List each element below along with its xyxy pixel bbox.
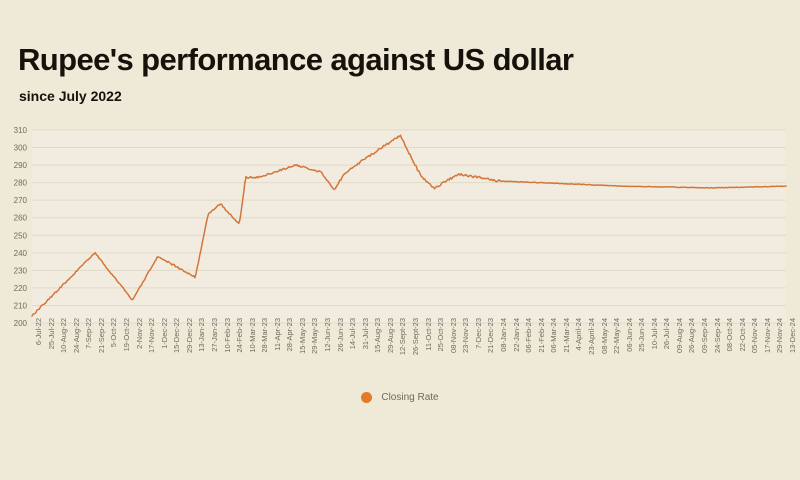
svg-text:210: 210 xyxy=(14,301,28,310)
x-axis-tick-label: 27-Jan-23 xyxy=(211,318,219,352)
x-axis-tick-label: 22-May-24 xyxy=(613,318,621,354)
circle-marker-icon xyxy=(361,392,372,403)
x-axis-tick-label: 10-Aug-22 xyxy=(60,318,68,353)
x-axis-tick-label: 28-Mar-23 xyxy=(261,318,269,353)
x-axis-tick-label: 10-Jul-24 xyxy=(651,318,659,349)
x-axis-tick-label: 11-Oct-23 xyxy=(425,318,433,351)
x-axis-tick-label: 15-Dec-22 xyxy=(173,318,181,353)
x-axis-tick-label: 26-Aug-24 xyxy=(688,318,696,353)
x-axis-tick-label: 17-Nov-24 xyxy=(764,318,772,353)
x-axis-tick-label: 09-Sep-24 xyxy=(701,318,709,353)
x-axis-tick-label: 24-Feb-23 xyxy=(236,318,244,353)
x-axis-tick-label: 7-Dec-23 xyxy=(475,318,483,349)
chart-legend: Closing Rate xyxy=(0,390,800,410)
x-axis-tick-label: 7-Sep-22 xyxy=(85,318,93,349)
x-axis-tick-label: 29-May-23 xyxy=(311,318,319,354)
legend-label: Closing Rate xyxy=(381,393,438,403)
svg-text:310: 310 xyxy=(14,126,28,135)
plot-area: 200210220230240250260270280290300310 xyxy=(0,120,800,330)
line-chart-svg: 200210220230240250260270280290300310 xyxy=(0,120,800,330)
x-axis-tick-label: 06-Jun-24 xyxy=(626,318,634,352)
x-axis-tick-label: 13-Dec-24 xyxy=(789,318,797,353)
x-axis-tick-label: 15-May-23 xyxy=(299,318,307,354)
x-axis-tick-label: 31-Jul-23 xyxy=(362,318,370,349)
x-axis-tick-label: 29-Nov-24 xyxy=(776,318,784,353)
x-axis-tick-label: 08-Nov-23 xyxy=(450,318,458,353)
x-axis-tick-label: 1-Dec-22 xyxy=(161,318,169,349)
x-axis-tick-label: 17-Nov-22 xyxy=(148,318,156,353)
svg-text:230: 230 xyxy=(14,266,28,275)
x-axis-tick-label: 23-Nov-23 xyxy=(462,318,470,353)
svg-text:270: 270 xyxy=(14,196,28,205)
x-axis-tick-label: 26-Jun-23 xyxy=(337,318,345,352)
x-axis-tick-label: 19-Oct-22 xyxy=(123,318,131,351)
x-axis-tick-label: 25-Jun-24 xyxy=(638,318,646,352)
svg-text:220: 220 xyxy=(14,284,28,293)
x-axis-tick-label: 12-Sept-23 xyxy=(399,318,407,355)
page-title: Rupee's performance against US dollar xyxy=(18,44,573,75)
x-axis-tick-label: 22-Jan-24 xyxy=(513,318,521,352)
svg-text:290: 290 xyxy=(14,161,28,170)
x-axis-tick-label: 24-Sep-24 xyxy=(714,318,722,353)
x-axis-tick-label: 28-Apr-23 xyxy=(286,318,294,351)
svg-text:260: 260 xyxy=(14,214,28,223)
x-axis-tick-label: 08-May-24 xyxy=(601,318,609,354)
svg-text:250: 250 xyxy=(14,231,28,240)
svg-text:240: 240 xyxy=(14,249,28,258)
x-axis-tick-label: 25-Jul-22 xyxy=(48,318,56,349)
x-axis-tick-label: 11-Apr-23 xyxy=(274,318,282,351)
x-axis-tick-label: 06-Feb-24 xyxy=(525,318,533,353)
svg-text:300: 300 xyxy=(14,144,28,153)
chart-figure: Rupee's performance against US dollar si… xyxy=(0,0,800,480)
x-axis-tick-label: 06-Mar-24 xyxy=(550,318,558,353)
x-axis-tick-label: 2-Nov-22 xyxy=(136,318,144,349)
x-axis-tick-label: 21-Sep-22 xyxy=(98,318,106,353)
x-axis-tick-label: 23-April-24 xyxy=(588,318,596,355)
svg-text:280: 280 xyxy=(14,179,28,188)
x-axis-tick-label: 05-Nov-24 xyxy=(751,318,759,353)
y-axis-ticks: 200210220230240250260270280290300310 xyxy=(14,126,28,328)
x-axis-tick-label: 08-Oct-24 xyxy=(726,318,734,351)
x-axis-tick-label: 4-April-24 xyxy=(575,318,583,351)
x-axis-tick-label: 21-Feb-24 xyxy=(538,318,546,353)
x-axis-tick-label: 29-Aug-23 xyxy=(387,318,395,353)
x-axis-tick-label: 09-Aug-24 xyxy=(676,318,684,353)
x-axis-tick-label: 26-Jul-24 xyxy=(663,318,671,349)
x-axis-tick-label: 29-Dec-22 xyxy=(186,318,194,353)
x-axis-tick-label: 12-Jun-23 xyxy=(324,318,332,352)
plot-background xyxy=(32,130,786,323)
x-axis-tick-label: 10-Feb-23 xyxy=(224,318,232,353)
x-axis-tick-label: 6-Jul-22 xyxy=(35,318,43,345)
x-axis-tick-label: 5-Oct-22 xyxy=(110,318,118,347)
x-axis-tick-label: 24-Aug-22 xyxy=(73,318,81,353)
x-axis-tick-label: 21-Dec-23 xyxy=(487,318,495,353)
x-axis-tick-label: 22-Oct-24 xyxy=(739,318,747,351)
page-subtitle: since July 2022 xyxy=(19,89,122,103)
x-axis-tick-label: 13-Jan-23 xyxy=(198,318,206,352)
x-axis-ticks: 6-Jul-2225-Jul-2210-Aug-2224-Aug-227-Sep… xyxy=(0,318,800,380)
x-axis-tick-label: 14-Jul-23 xyxy=(349,318,357,349)
x-axis-tick-label: 08-Jan-24 xyxy=(500,318,508,352)
x-axis-tick-label: 25-Oct-23 xyxy=(437,318,445,351)
x-axis-tick-label: 21-Mar-24 xyxy=(563,318,571,353)
x-axis-tick-label: 15-Aug-23 xyxy=(374,318,382,353)
x-axis-tick-label: 26-Sept-23 xyxy=(412,318,420,355)
x-axis-tick-label: 10-Mar-23 xyxy=(249,318,257,353)
